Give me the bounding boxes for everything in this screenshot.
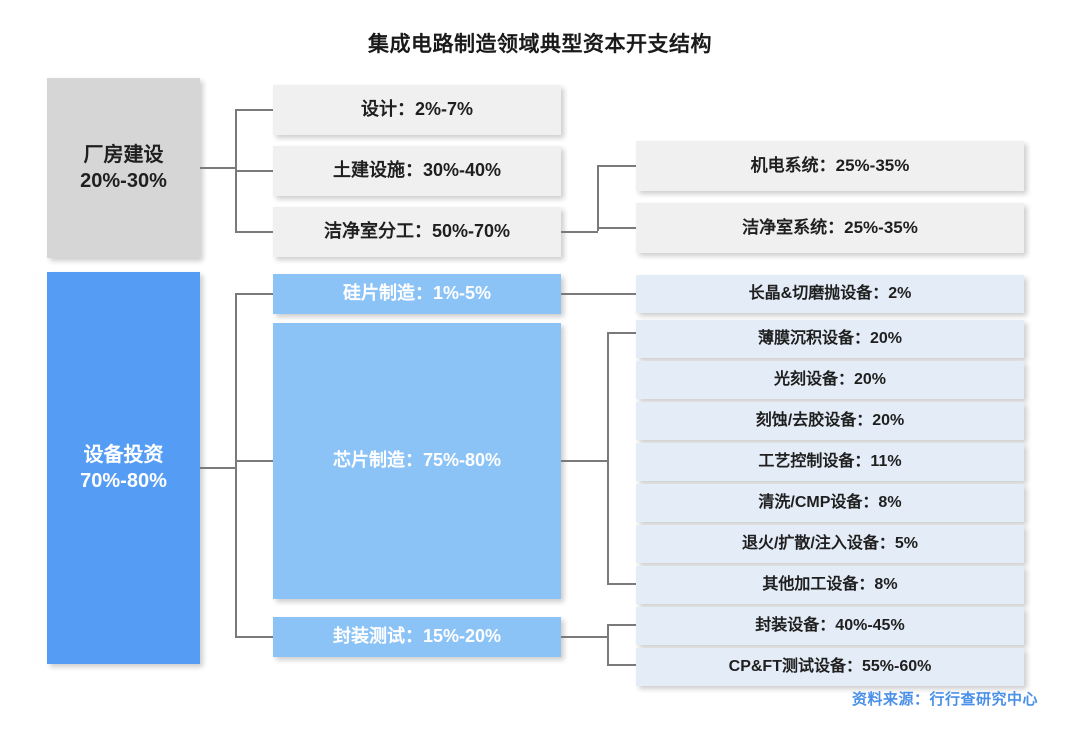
connector-equipment-to-chip xyxy=(235,460,273,462)
node-equipment-investment[interactable]: 设备投资 70%-80% xyxy=(47,272,200,664)
connector-packaging-spine xyxy=(607,624,609,666)
node-cp-ft-test-equipment[interactable]: CP&FT测试设备：55%-60% xyxy=(636,648,1024,686)
connector-factory-stub xyxy=(200,167,236,169)
connector-equipment-to-wafer xyxy=(235,293,273,295)
node-packaging-equipment[interactable]: 封装设备：40%-45% xyxy=(636,607,1024,645)
node-civil-works[interactable]: 土建设施：30%-40% xyxy=(273,146,561,196)
source-attribution: 资料来源：行行查研究中心 xyxy=(852,688,1038,709)
node-packaging-testing[interactable]: 封装测试：15%-20% xyxy=(273,617,561,657)
node-design[interactable]: 设计：2%-7% xyxy=(273,85,561,135)
node-chip-manufacturing[interactable]: 芯片制造：75%-80% xyxy=(273,323,561,599)
connector-cleanroom-to-electromechanical xyxy=(597,165,636,167)
node-thin-film-deposition-equipment[interactable]: 薄膜沉积设备：20% xyxy=(636,320,1024,358)
node-cleaning-cmp-equipment[interactable]: 清洗/CMP设备：8% xyxy=(636,484,1024,522)
connector-chip-stub xyxy=(561,460,608,462)
node-lithography-equipment[interactable]: 光刻设备：20% xyxy=(636,361,1024,399)
node-factory-construction[interactable]: 厂房建设 20%-30% xyxy=(47,78,200,258)
connector-equipment-stub xyxy=(200,467,236,469)
connector-factory-to-design xyxy=(235,109,273,111)
node-etching-stripping-equipment[interactable]: 刻蚀/去胶设备：20% xyxy=(636,402,1024,440)
connector-packaging-stub xyxy=(561,636,608,638)
connector-equipment-spine xyxy=(235,293,237,637)
page-title: 集成电路制造领域典型资本开支结构 xyxy=(0,28,1080,58)
connector-equipment-to-packaging xyxy=(235,636,273,638)
node-anneal-diffusion-implant-equipment[interactable]: 退火/扩散/注入设备：5% xyxy=(636,525,1024,563)
connector-packaging-to-cp-ft xyxy=(607,664,636,666)
connector-cleanroom-stub xyxy=(561,231,598,233)
connector-packaging-to-packaging-equipment xyxy=(607,624,636,626)
connector-chip-to-other-processing xyxy=(607,583,636,585)
connector-factory-to-civil xyxy=(235,170,273,172)
node-crystal-growth-equipment[interactable]: 长晶&切磨抛设备：2% xyxy=(636,275,1024,313)
node-wafer-manufacturing[interactable]: 硅片制造：1%-5% xyxy=(273,274,561,314)
connector-cleanroom-to-cleanroom-system xyxy=(597,227,636,229)
connector-wafer-to-crystal xyxy=(561,293,636,295)
node-cleanroom-system[interactable]: 洁净室系统：25%-35% xyxy=(636,203,1024,253)
connector-chip-spine xyxy=(607,332,609,585)
node-electromechanical-system[interactable]: 机电系统：25%-35% xyxy=(636,141,1024,191)
connector-cleanroom-spine xyxy=(597,165,599,231)
node-process-control-equipment[interactable]: 工艺控制设备：11% xyxy=(636,443,1024,481)
connector-factory-to-cleanroom xyxy=(235,231,273,233)
node-other-processing-equipment[interactable]: 其他加工设备：8% xyxy=(636,566,1024,604)
connector-chip-to-thin-film xyxy=(607,332,636,334)
node-cleanroom-division[interactable]: 洁净室分工：50%-70% xyxy=(273,207,561,257)
diagram-canvas: 集成电路制造领域典型资本开支结构 厂房建设 20%-30% 设备投资 70%-8… xyxy=(0,0,1080,737)
